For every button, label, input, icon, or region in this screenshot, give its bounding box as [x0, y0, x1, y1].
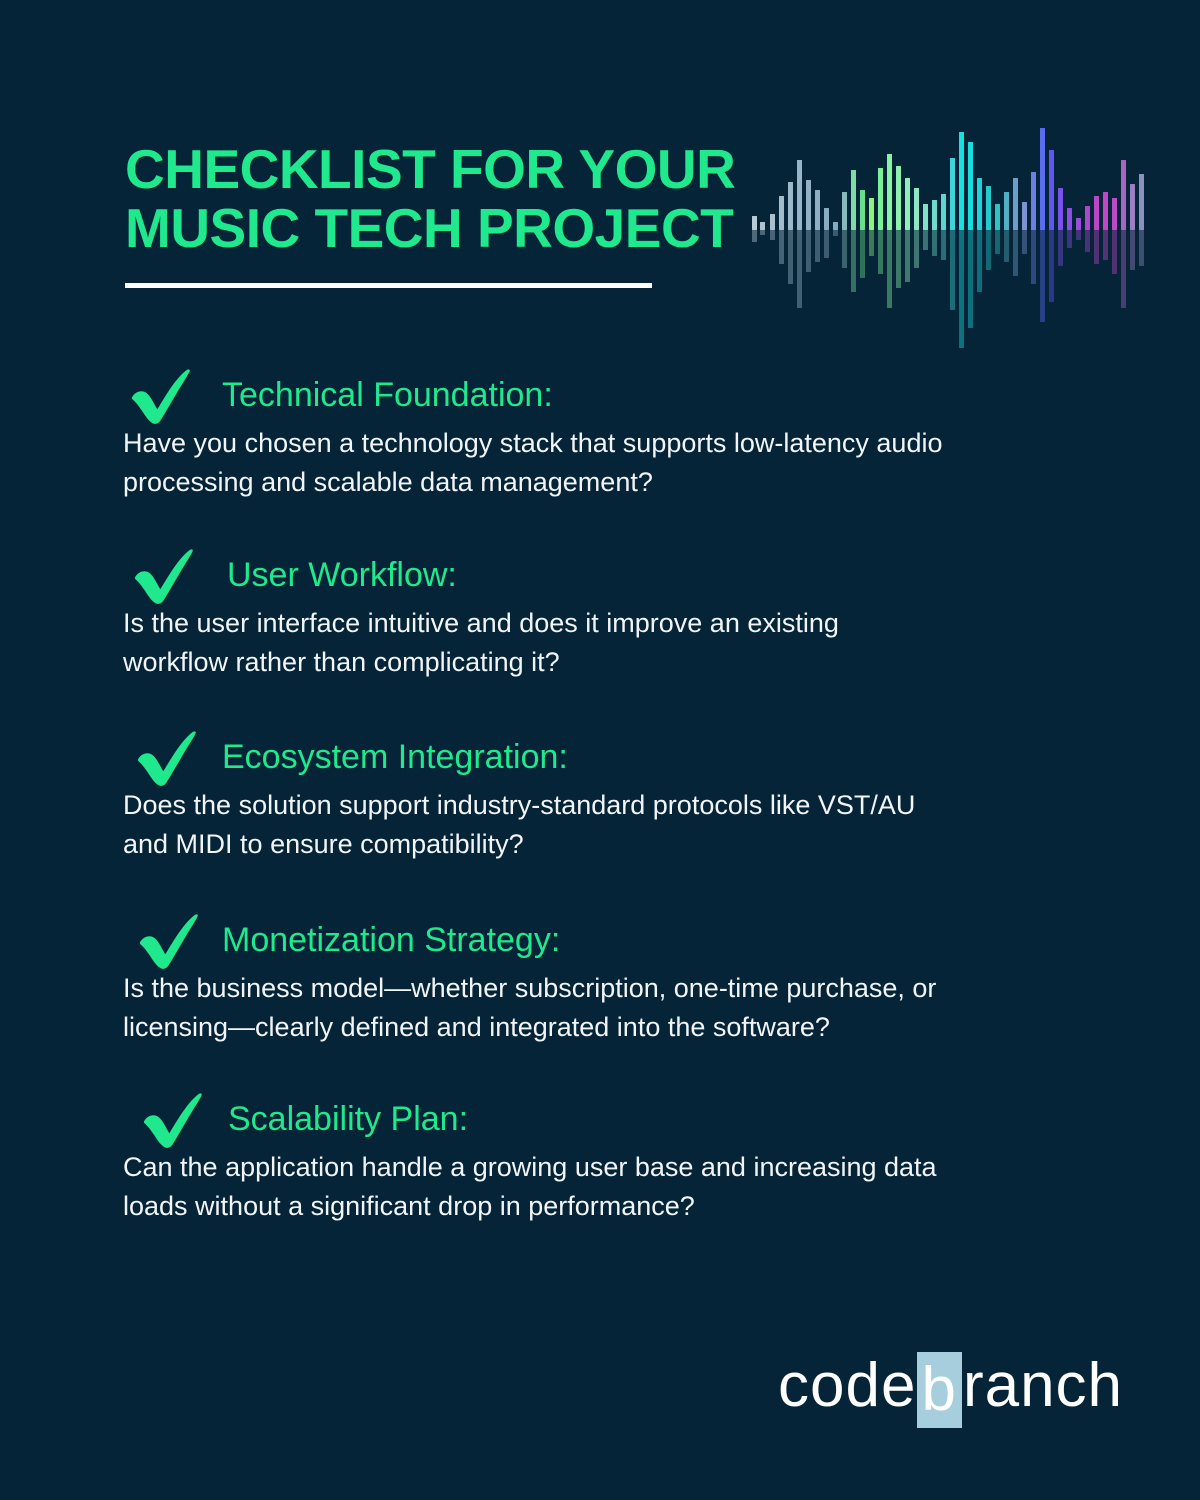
checklist-item-body: Does the solution support industry-stand… [123, 786, 1083, 864]
waveform-bar [914, 188, 919, 230]
checklist-item-title: Monetization Strategy: [222, 919, 560, 961]
checklist-item-header: Technical Foundation: [0, 368, 1200, 426]
waveform-bar-reflection [1040, 230, 1045, 322]
title-line-1: CHECKLIST FOR YOUR [125, 140, 725, 199]
waveform-bar-reflection [1112, 230, 1117, 274]
waveform-bar-reflection [1139, 230, 1144, 266]
waveform-bar-reflection [941, 230, 946, 260]
poster-header: CHECKLIST FOR YOUR MUSIC TECH PROJECT [0, 0, 1200, 350]
waveform-bar [968, 142, 973, 230]
waveform-bar [878, 168, 883, 230]
checklist-item-body: Is the user interface intuitive and does… [123, 604, 1083, 682]
checklist-item-body-line: and MIDI to ensure compatibility? [123, 825, 1083, 864]
waveform-bar [986, 186, 991, 230]
checklist-item-body-line: licensing—clearly defined and integrated… [123, 1008, 1083, 1047]
waveform-bar [896, 166, 901, 230]
checklist-item-body-line: Can the application handle a growing use… [123, 1148, 1083, 1187]
waveform-bar [833, 222, 838, 230]
checklist-item: User Workflow:Is the user interface intu… [0, 548, 1200, 606]
waveform-bar-reflection [914, 230, 919, 268]
waveform-bar [860, 190, 865, 230]
logo-highlight-b: b [917, 1352, 961, 1428]
waveform-bar-reflection [860, 230, 865, 278]
waveform-bar-reflection [986, 230, 991, 270]
waveform-bar-reflection [1067, 230, 1072, 248]
waveform-bar-reflection [878, 230, 883, 274]
check-mark-icon [140, 1092, 214, 1150]
checklist-item-title: Technical Foundation: [222, 374, 553, 416]
waveform-bar-reflection [1103, 230, 1108, 260]
waveform-bar [752, 216, 757, 230]
waveform-bar [797, 160, 802, 230]
checklist-item-title: Ecosystem Integration: [222, 736, 568, 778]
waveform-bar [995, 204, 1000, 230]
waveform-bar-reflection [869, 230, 874, 256]
waveform-bar [1022, 202, 1027, 230]
waveform-bar-reflection [923, 230, 928, 250]
waveform-bar-reflection [815, 230, 820, 262]
checklist-item-body-line: Does the solution support industry-stand… [123, 786, 1083, 825]
waveform-bar [869, 198, 874, 230]
waveform-bar-reflection [779, 230, 784, 264]
waveform-bar-reflection [950, 230, 955, 310]
checklist-item: Monetization Strategy:Is the business mo… [0, 913, 1200, 971]
waveform-bar [1139, 174, 1144, 230]
checklist-poster: CHECKLIST FOR YOUR MUSIC TECH PROJECT Te… [0, 0, 1200, 1500]
waveform-bar-reflection [932, 230, 937, 256]
title-divider [125, 283, 652, 288]
checklist-item-body: Have you chosen a technology stack that … [123, 424, 1083, 502]
checklist-item: Ecosystem Integration:Does the solution … [0, 730, 1200, 788]
checklist-item-header: Ecosystem Integration: [0, 730, 1200, 788]
waveform-bar [851, 170, 856, 230]
check-mark-icon [136, 913, 210, 971]
waveform-bar [1112, 198, 1117, 230]
waveform-bar [1085, 206, 1090, 230]
waveform-bar-reflection [788, 230, 793, 284]
checklist-item-body: Is the business model—whether subscripti… [123, 969, 1083, 1047]
checklist-item-header: Scalability Plan: [0, 1092, 1200, 1150]
waveform-bar-reflection [1076, 230, 1081, 240]
waveform-bar-reflection [806, 230, 811, 272]
checklist-item-body: Can the application handle a growing use… [123, 1148, 1083, 1226]
waveform-bar-reflection [887, 230, 892, 308]
waveform-bar-reflection [1058, 230, 1063, 266]
waveform-bar [779, 196, 784, 230]
waveform-bar-reflection [977, 230, 982, 292]
waveform-bar-reflection [959, 230, 964, 348]
waveform-bar [905, 178, 910, 230]
waveform-bar [1004, 192, 1009, 230]
waveform-bar-reflection [833, 230, 838, 236]
waveform-bar [1058, 188, 1063, 230]
waveform-bar-reflection [896, 230, 901, 288]
waveform-bar [1076, 218, 1081, 230]
logo-text-ranch: ranch [963, 1350, 1123, 1421]
waveform-bar-reflection [1022, 230, 1027, 254]
page-title: CHECKLIST FOR YOUR MUSIC TECH PROJECT [125, 140, 725, 258]
waveform-bar-reflection [905, 230, 910, 282]
checklist-item-header: User Workflow: [0, 548, 1200, 606]
waveform-bar [923, 204, 928, 230]
waveform-bar [760, 222, 765, 230]
waveform-bar-reflection [968, 230, 973, 328]
waveform-bar [1040, 128, 1045, 230]
codebranch-logo: codebranch [778, 1348, 1123, 1420]
title-line-2: MUSIC TECH PROJECT [125, 199, 725, 258]
checklist-item-body-line: loads without a significant drop in perf… [123, 1187, 1083, 1226]
waveform-bar [1067, 208, 1072, 230]
waveform-bar [1121, 160, 1126, 230]
checklist-item-body-line: Is the business model—whether subscripti… [123, 969, 1083, 1008]
checklist-item-body-line: processing and scalable data management? [123, 463, 1083, 502]
waveform-bar [941, 194, 946, 230]
waveform-bar-reflection [1031, 230, 1036, 284]
waveform-bar-reflection [1004, 230, 1009, 262]
checklist-item: Technical Foundation:Have you chosen a t… [0, 368, 1200, 426]
checklist-item-header: Monetization Strategy: [0, 913, 1200, 971]
waveform-bar-reflection [1130, 230, 1135, 270]
waveform-bar-reflection [1085, 230, 1090, 252]
checklist-item: Scalability Plan:Can the application han… [0, 1092, 1200, 1150]
waveform-bar [950, 158, 955, 230]
waveform-bar [1103, 192, 1108, 230]
waveform-bar [1094, 196, 1099, 230]
waveform-bar-reflection [752, 230, 757, 242]
audio-waveform-graphic [750, 112, 1200, 350]
waveform-bar [1049, 150, 1054, 230]
logo-text-code: code [778, 1350, 916, 1421]
checklist-item-title: Scalability Plan: [228, 1098, 468, 1140]
check-mark-icon [128, 368, 202, 426]
waveform-bar-reflection [760, 230, 765, 235]
waveform-bar [977, 178, 982, 230]
waveform-bar-reflection [1121, 230, 1126, 308]
waveform-bar-reflection [842, 230, 847, 268]
waveform-bar [815, 190, 820, 230]
waveform-bar [932, 200, 937, 230]
waveform-bar [959, 132, 964, 230]
waveform-bar [824, 208, 829, 230]
check-mark-icon [131, 548, 205, 606]
waveform-bar-reflection [824, 230, 829, 258]
waveform-bar [1031, 172, 1036, 230]
waveform-bar-reflection [995, 230, 1000, 254]
waveform-bar-reflection [797, 230, 802, 308]
waveform-bar-reflection [1013, 230, 1018, 276]
check-mark-icon [134, 730, 208, 788]
waveform-bar [842, 192, 847, 230]
waveform-bar [887, 154, 892, 230]
waveform-bar-reflection [1094, 230, 1099, 264]
waveform-bar-reflection [1049, 230, 1054, 302]
waveform-bar [1013, 178, 1018, 230]
waveform-bar [1130, 184, 1135, 230]
waveform-bar [788, 182, 793, 230]
waveform-bar-reflection [770, 230, 775, 240]
checklist-item-body-line: workflow rather than complicating it? [123, 643, 1083, 682]
checklist-item-body-line: Have you chosen a technology stack that … [123, 424, 1083, 463]
waveform-bar [770, 214, 775, 230]
waveform-top-half [750, 112, 1200, 230]
checklist-item-title: User Workflow: [227, 554, 457, 596]
waveform-reflection-half [750, 230, 1200, 350]
waveform-bar [806, 180, 811, 230]
waveform-bar-reflection [851, 230, 856, 292]
checklist-item-body-line: Is the user interface intuitive and does… [123, 604, 1083, 643]
